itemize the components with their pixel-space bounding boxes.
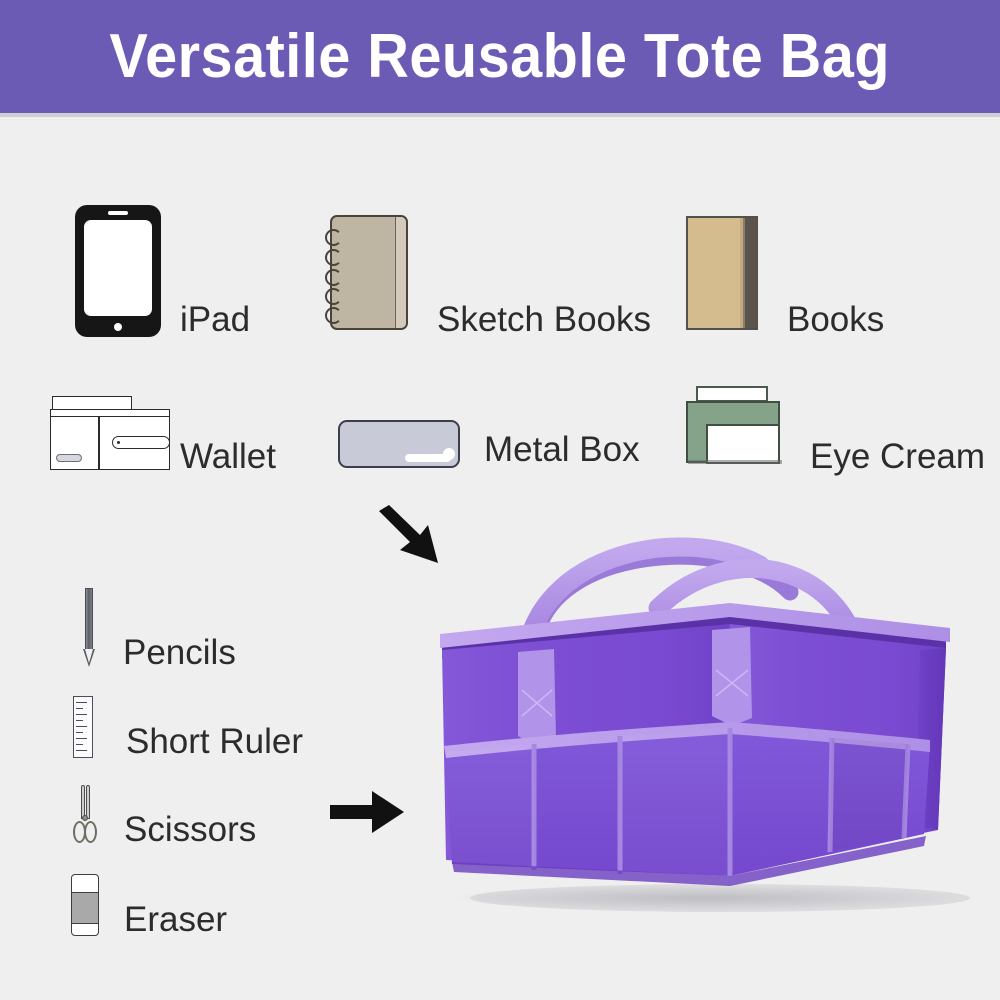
pencil-tip [85, 649, 93, 663]
spiral-ring [325, 229, 342, 246]
tote-strap-tab-right [712, 627, 752, 726]
tote-strap-tab-left [518, 649, 556, 746]
scissors-pivot [82, 815, 88, 821]
book-spine [743, 218, 756, 328]
ipad-home-button-icon [114, 323, 122, 331]
book-icon [686, 216, 758, 330]
scissors-blade [86, 785, 90, 819]
item-label-eye-cream: Eye Cream [810, 437, 985, 477]
scissors-handle [84, 821, 97, 843]
eye-cream-box-icon [686, 386, 782, 466]
ipad-screen [84, 220, 152, 316]
wallet-divider [98, 417, 100, 470]
tote-ground-shadow [445, 885, 965, 911]
item-label-sketch-books: Sketch Books [437, 300, 651, 340]
item-label-ipad: iPad [180, 300, 250, 340]
item-label-scissors: Scissors [124, 810, 256, 850]
tote-bag-image [430, 500, 990, 920]
arrow-right-icon [330, 788, 406, 836]
spiral-ring [325, 307, 342, 324]
ipad-icon [75, 205, 161, 337]
wallet-icon [50, 396, 172, 470]
spiral-ring [325, 269, 342, 286]
ipad-camera-icon [108, 211, 128, 215]
spiral-notebook-icon [330, 215, 408, 330]
eye-cream-shadow [688, 460, 782, 464]
item-label-metal-box: Metal Box [484, 430, 640, 470]
pencil-icon [82, 588, 96, 668]
wallet-flap [52, 396, 132, 410]
item-label-books: Books [787, 300, 884, 340]
wallet-card-dot [117, 441, 120, 444]
metal-box-icon [338, 420, 460, 468]
item-label-short-ruler: Short Ruler [126, 722, 303, 762]
item-label-wallet: Wallet [180, 437, 276, 477]
eraser-icon [71, 874, 99, 936]
item-label-eraser: Eraser [124, 900, 227, 940]
eye-cream-label-panel [706, 424, 780, 464]
header-banner: Versatile Reusable Tote Bag [0, 0, 1000, 113]
ruler-icon [73, 696, 93, 758]
wallet-card-slot [112, 436, 170, 449]
metal-box-corner-highlight [443, 448, 455, 460]
spiral-ring [325, 249, 342, 266]
header-divider [0, 113, 1000, 117]
eraser-band [72, 892, 98, 924]
wallet-band [50, 409, 170, 417]
scissors-blade [81, 785, 85, 819]
notebook-page-edge [395, 217, 406, 328]
page-title: Versatile Reusable Tote Bag [110, 26, 891, 88]
wallet-tab [56, 454, 82, 462]
spiral-ring [325, 288, 342, 305]
pencil-body [85, 588, 93, 650]
item-label-pencils: Pencils [123, 633, 236, 673]
scissors-icon [72, 785, 98, 847]
eye-cream-lid [696, 386, 768, 402]
infographic-page: Versatile Reusable Tote Bag iPad Sketch … [0, 0, 1000, 1000]
